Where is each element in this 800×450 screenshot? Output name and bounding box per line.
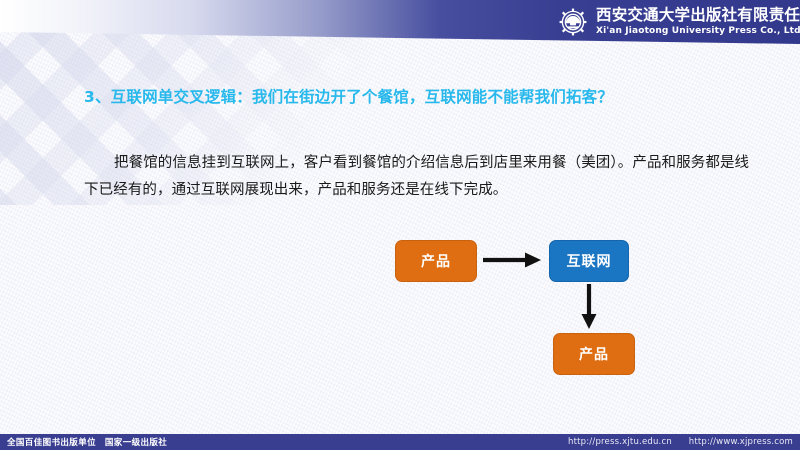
diagram-node-product-bottom: 产品 — [553, 333, 635, 375]
arrow-right-icon — [483, 250, 543, 270]
slide-content: 3、互联网单交叉逻辑：我们在街边开了个餐馆，互联网能不能帮我们拓客？ 把餐馆的信… — [0, 0, 800, 450]
body-paragraph: 把餐馆的信息挂到互联网上，客户看到餐馆的介绍信息后到店里来用餐（美团）。产品和服… — [84, 150, 756, 204]
presentation-slide: 西安交通大学出版社有限责任公司 Xi'an Jiaotong Universit… — [0, 0, 800, 450]
slide-title: 3、互联网单交叉逻辑：我们在街边开了个餐馆，互联网能不能帮我们拓客？ — [84, 80, 756, 114]
arrow-down-icon — [579, 284, 599, 330]
footer-url-secondary[interactable]: http://www.xjpress.com — [689, 437, 793, 447]
footer-honors-text: 全国百佳图书出版单位 国家一级出版社 — [7, 436, 167, 448]
footer-urls: http://press.xjtu.edu.cn http://www.xjpr… — [568, 437, 793, 447]
flow-diagram: 产品 互联网 产品 — [383, 228, 665, 380]
footer-url-primary[interactable]: http://press.xjtu.edu.cn — [568, 437, 672, 447]
footer-bar: 全国百佳图书出版单位 国家一级出版社 http://press.xjtu.edu… — [0, 434, 800, 450]
diagram-node-product-left: 产品 — [395, 240, 477, 282]
diagram-node-internet: 互联网 — [549, 240, 629, 282]
